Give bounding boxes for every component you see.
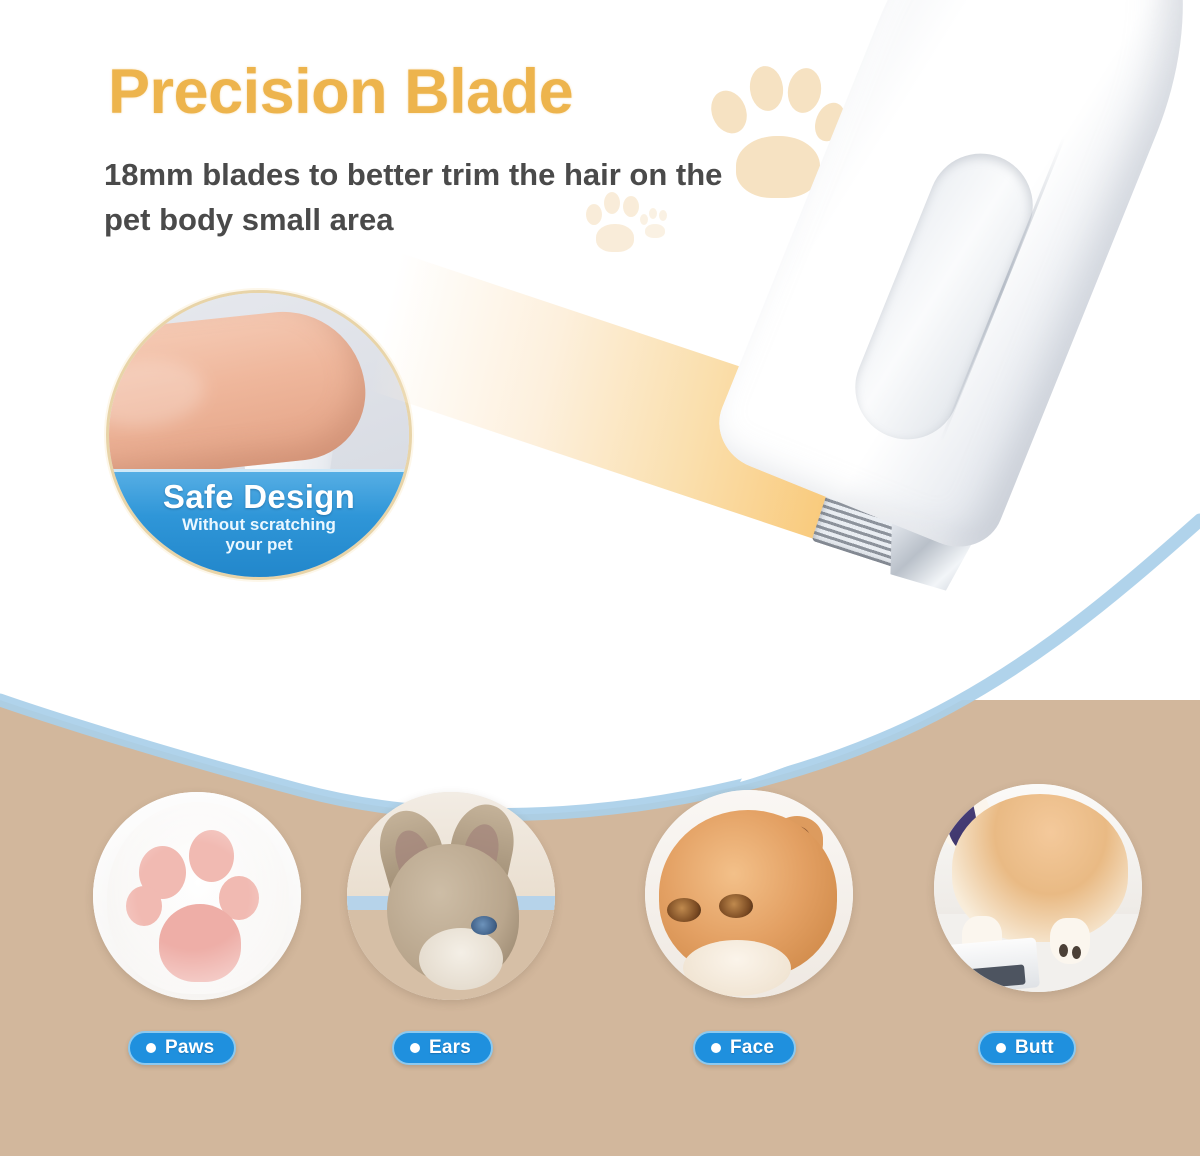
use-area-photo-paws: [93, 792, 301, 1000]
orange-cat-face-photo: [645, 790, 853, 998]
safe-design-headline: Safe Design: [109, 480, 409, 514]
safe-design-subline-2: your pet: [109, 535, 409, 554]
use-area-photo-butt: [934, 784, 1142, 992]
bullet-dot-icon: [146, 1043, 156, 1053]
bullet-dot-icon: [711, 1043, 721, 1053]
page-subtitle: 18mm blades to better trim the hair on t…: [104, 152, 764, 243]
safe-design-banner: Safe Design Without scratching your pet: [109, 469, 409, 577]
use-area-label-text: Ears: [429, 1037, 471, 1059]
use-area-label-paws[interactable]: Paws: [128, 1031, 236, 1065]
use-area-photo-ears: [347, 792, 555, 1000]
use-area-label-text: Face: [730, 1037, 774, 1059]
use-area-label-butt[interactable]: Butt: [978, 1031, 1076, 1065]
bullet-dot-icon: [996, 1043, 1006, 1053]
page-title: Precision Blade: [108, 56, 573, 128]
product-feature-poster: Precision Blade 18mm blades to better tr…: [0, 0, 1200, 1156]
trimmer-handle-groove: [840, 138, 1049, 455]
safe-design-subline-1: Without scratching: [109, 515, 409, 534]
use-area-label-text: Butt: [1015, 1037, 1054, 1059]
bullet-dot-icon: [410, 1043, 420, 1053]
use-area-label-face[interactable]: Face: [693, 1031, 796, 1065]
kitten-ears-photo: [347, 792, 555, 1000]
use-area-photo-face: [645, 790, 853, 998]
use-area-label-ears[interactable]: Ears: [392, 1031, 493, 1065]
cat-paw-photo: [93, 792, 301, 1000]
use-area-label-text: Paws: [165, 1037, 214, 1059]
pomeranian-rear-photo: [934, 784, 1142, 992]
